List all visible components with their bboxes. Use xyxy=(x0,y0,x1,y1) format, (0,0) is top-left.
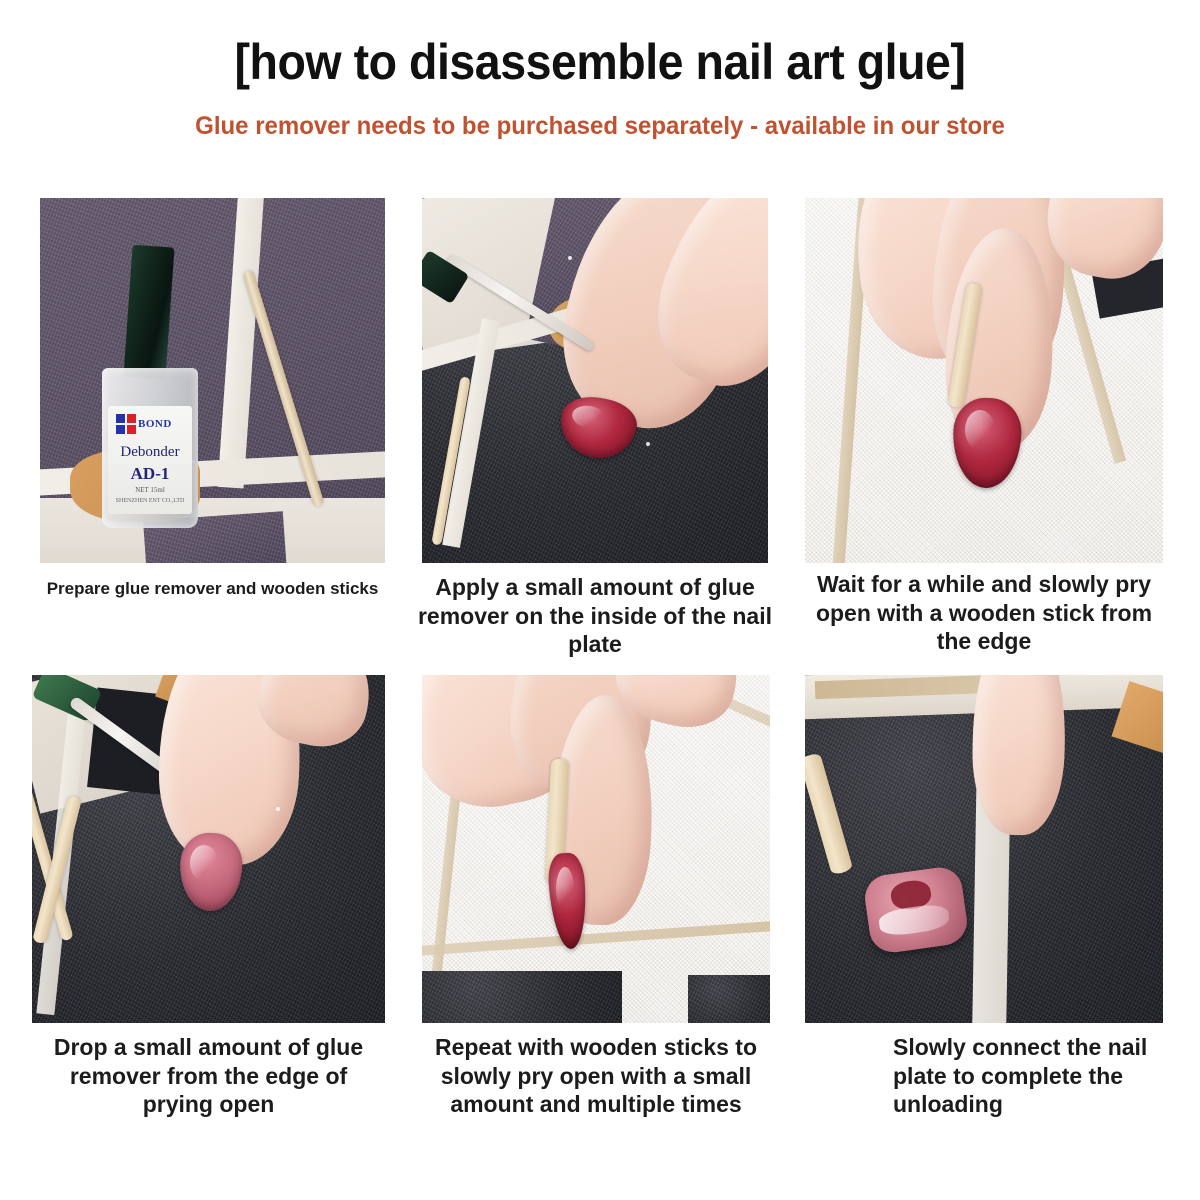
wooden-stick-icon xyxy=(805,752,853,875)
step-card-6: Slowly connect the nail plate to complet… xyxy=(805,675,1163,1023)
logo-square-red-2 xyxy=(127,425,136,434)
step-card-3: Wait for a while and slowly pry open wit… xyxy=(805,198,1163,563)
product-net: NET 15ml xyxy=(108,486,192,494)
brand-logo xyxy=(116,414,136,423)
product-code: AD-1 xyxy=(108,464,192,484)
nail-plate xyxy=(179,832,244,912)
step-caption-5: Repeat with wooden sticks to slowly pry … xyxy=(414,1033,778,1119)
step-card-4: Drop a small amount of glue remover from… xyxy=(32,675,385,1023)
logo-square-red xyxy=(127,414,136,423)
logo-square-blue-2 xyxy=(116,425,125,434)
brand-logo-2 xyxy=(116,425,136,434)
step-image-4 xyxy=(32,675,385,1023)
step-caption-2: Apply a small amount of glue remover on … xyxy=(412,573,778,659)
bottle-label: BOND Debonder AD-1 NET 15ml SHENZHEN ENT… xyxy=(108,406,192,514)
step-card-2: Apply a small amount of glue remover on … xyxy=(422,198,768,563)
logo-square-blue xyxy=(116,414,125,423)
step-caption-1: Prepare glue remover and wooden sticks xyxy=(40,578,385,600)
step-caption-3: Wait for a while and slowly pry open wit… xyxy=(800,570,1168,656)
nail-plate xyxy=(951,397,1022,489)
finger xyxy=(971,675,1067,836)
product-maker: SHENZHEN ENT CO.,LTD xyxy=(108,498,192,504)
infographic-page: [how to disassemble nail art glue] Glue … xyxy=(0,0,1200,1200)
step-card-5: Repeat with wooden sticks to slowly pry … xyxy=(422,675,770,1023)
step-caption-6: Slowly connect the nail plate to complet… xyxy=(893,1033,1193,1119)
step-image-6 xyxy=(805,675,1163,1023)
step-image-2 xyxy=(422,198,768,563)
step-image-1: BOND Debonder AD-1 NET 15ml SHENZHEN ENT… xyxy=(40,198,385,563)
step-card-1: BOND Debonder AD-1 NET 15ml SHENZHEN ENT… xyxy=(40,198,385,563)
step-image-3 xyxy=(805,198,1163,563)
product-name: Debonder xyxy=(108,444,192,461)
step-caption-4: Drop a small amount of glue remover from… xyxy=(32,1033,385,1119)
steps-grid: BOND Debonder AD-1 NET 15ml SHENZHEN ENT… xyxy=(0,0,1200,1200)
brand-text: BOND xyxy=(138,418,172,430)
bottle-cap xyxy=(123,245,174,380)
step-image-5 xyxy=(422,675,770,1023)
